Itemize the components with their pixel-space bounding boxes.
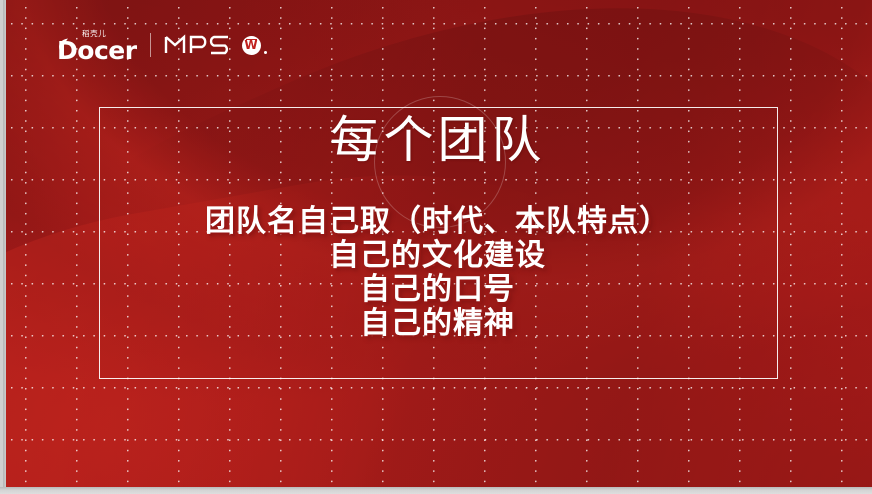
docer-wordmark-text: ocer [77,36,136,65]
wps-badge-bar [246,39,257,40]
logo-divider [150,33,151,57]
leaf-icon [58,38,69,54]
page-left-edge [3,0,6,487]
slide-viewer: 稻壳儿 Docer W [0,0,872,494]
slide-headline: 每个团队 [3,112,872,168]
docer-chinese-label: 稻壳儿 [82,28,106,39]
wps-trailing-dot [264,51,267,54]
brand-logo-bar: 稻壳儿 Docer W [55,28,267,62]
body-line-1: 团队名自己取（时代、本队特点） [3,205,872,239]
docer-logo: 稻壳儿 Docer [55,28,137,62]
presentation-slide: 稻壳儿 Docer W [3,0,872,487]
wps-badge-letter: W [244,39,257,51]
body-line-2: 自己的文化建设 [3,239,872,273]
page-bottom-edge [0,487,872,494]
wps-badge-icon: W [242,36,261,55]
body-line-4: 自己的精神 [3,307,872,341]
wps-wordmark-icon [164,34,236,56]
body-line-3: 自己的口号 [3,273,872,307]
slide-body-text: 团队名自己取（时代、本队特点） 自己的文化建设 自己的口号 自己的精神 [3,205,872,341]
wps-logo: W [164,34,267,56]
